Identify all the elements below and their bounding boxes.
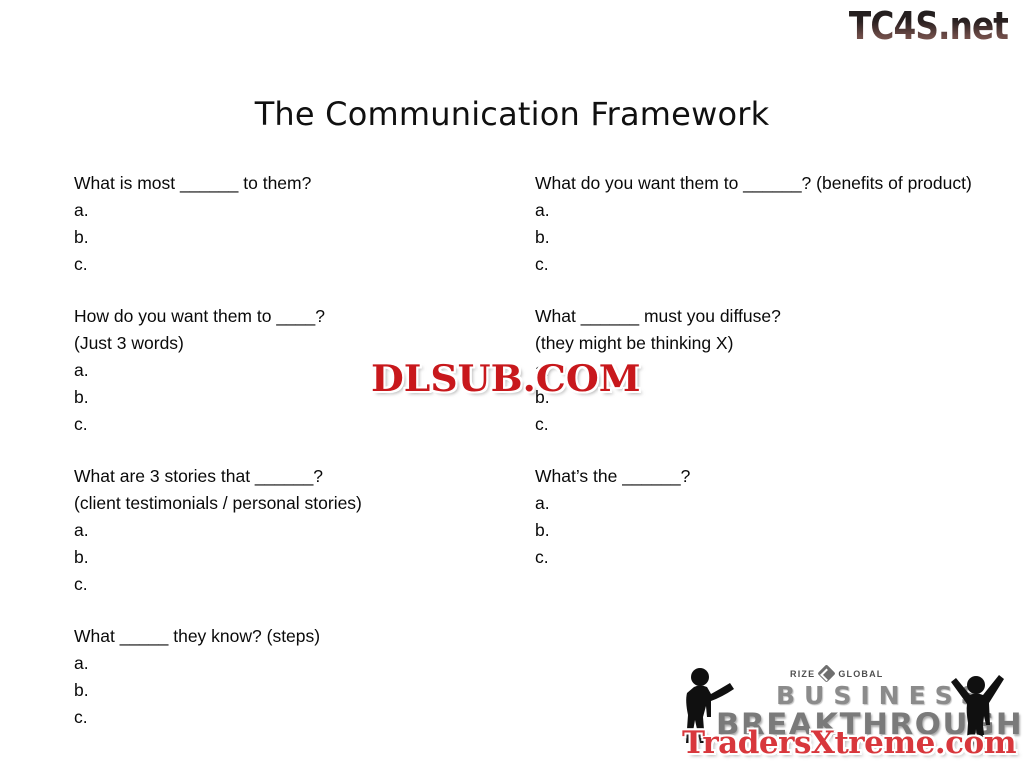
question-block: What are 3 stories that ______? (client …	[74, 463, 494, 598]
option-item: b.	[74, 224, 494, 251]
rize-global-wordmark: RIZE GLOBAL	[790, 667, 884, 680]
question-note: (Just 3 words)	[74, 330, 494, 357]
option-item: b.	[74, 544, 494, 571]
option-item: a.	[535, 490, 975, 517]
page-title: The Communication Framework	[0, 95, 1024, 133]
option-item: c.	[74, 704, 494, 731]
option-item: b.	[535, 224, 975, 251]
question-text: What _____ they know? (steps)	[74, 623, 494, 650]
option-item: a.	[74, 650, 494, 677]
left-column: What is most ______ to them? a. b. c. Ho…	[74, 170, 494, 731]
option-item: b.	[74, 677, 494, 704]
site-logo-tc4s: TC4S.net	[849, 4, 1008, 48]
option-item: c.	[535, 544, 975, 571]
option-item: c.	[535, 251, 975, 278]
question-text: What ______ must you diffuse?	[535, 303, 975, 330]
global-text: GLOBAL	[838, 669, 883, 679]
watermark-dlsub: DLSUB.COM	[371, 358, 641, 400]
option-item: a.	[535, 197, 975, 224]
option-item: c.	[535, 411, 975, 438]
option-item: c.	[74, 571, 494, 598]
slide-canvas: TC4S.net The Communication Framework Wha…	[0, 0, 1024, 768]
question-text: What do you want them to ______? (benefi…	[535, 170, 975, 197]
brand-lockup: RIZE GLOBAL BUSINESS BREAKTHROUGH Trader…	[668, 655, 1024, 768]
tradersxtreme-wordmark: TradersXtreme.com	[682, 725, 1016, 761]
question-block: What do you want them to ______? (benefi…	[535, 170, 975, 278]
option-item: a.	[74, 197, 494, 224]
diamond-logo-icon	[818, 664, 836, 682]
question-text: What are 3 stories that ______?	[74, 463, 494, 490]
question-note: (they might be thinking X)	[535, 330, 975, 357]
question-block: What _____ they know? (steps) a. b. c.	[74, 623, 494, 731]
question-block: What is most ______ to them? a. b. c.	[74, 170, 494, 278]
question-block: What’s the ______? a. b. c.	[535, 463, 975, 571]
option-item: c.	[74, 251, 494, 278]
question-note: (client testimonials / personal stories)	[74, 490, 494, 517]
option-item: b.	[535, 517, 975, 544]
rize-text: RIZE	[790, 669, 815, 679]
option-item: a.	[74, 517, 494, 544]
question-text: What’s the ______?	[535, 463, 975, 490]
question-text: What is most ______ to them?	[74, 170, 494, 197]
option-item: c.	[74, 411, 494, 438]
question-text: How do you want them to ____?	[74, 303, 494, 330]
